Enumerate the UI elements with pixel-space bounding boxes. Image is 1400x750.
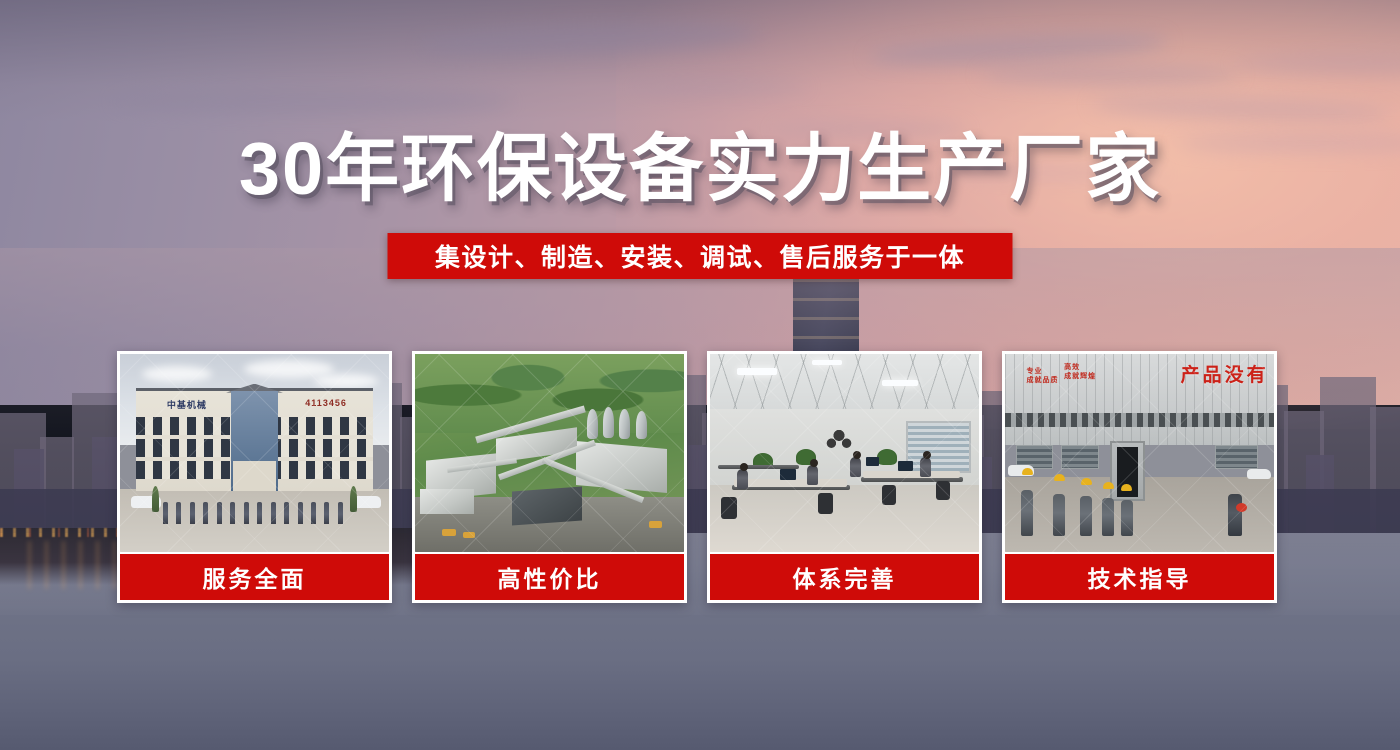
photo-yellow-machinery [463,532,475,538]
banner-headline: 30年环保设备实力生产厂家 [0,132,1400,206]
feature-card[interactable]: 高性价比 [412,351,687,603]
factory-workers-training-photo: 产品没有 专业 成就品质 高效 成就辉煌 [1005,354,1274,552]
photo-safety-helmet [1022,468,1033,475]
card-caption-text: 体系完善 [793,560,897,594]
photo-office-worker-head [810,459,818,467]
building-phone-text: 4113456 [305,398,347,408]
factory-wall-slogan: 产品没有 [1181,360,1269,387]
photo-supervisor [1228,494,1242,536]
photo-monitor [866,457,879,466]
photo-factory-worker [1021,490,1033,536]
photo-plant-shed [512,486,582,525]
building-sign-text: 中基机械 [167,398,207,411]
card-caption-text: 高性价比 [498,560,602,594]
photo-storage-silo [636,411,647,439]
photo-potted-plant [877,449,897,465]
photo-office-worker [920,457,931,477]
photo-staff-member [244,502,249,524]
feature-card[interactable]: 体系完善 [707,351,982,603]
photo-storage-silo [603,407,614,438]
card-caption: 高性价比 [415,552,684,600]
photo-chair [818,493,833,514]
photo-staff-member [338,502,343,524]
photo-staff-member [203,502,208,524]
photo-office-window-blinds [906,421,971,472]
photo-chair [721,497,737,519]
photo-factory-window [1215,445,1258,469]
photo-office-worker [737,469,748,489]
photo-factory-worker [1121,500,1133,536]
photo-office-worker-head [923,451,931,459]
feature-card[interactable]: 中基机械 4113456 [117,351,392,603]
card-caption-text: 技术指导 [1088,560,1192,594]
photo-factory-window [1061,445,1099,469]
photo-office-worker [850,457,861,477]
photo-staff-member [324,502,329,524]
photo-staff-member [176,502,181,524]
feature-card-row: 中基机械 4113456 [117,351,1283,603]
photo-storage-silo [587,409,598,439]
photo-entrance-portico [233,461,276,491]
photo-desk-surface [863,471,960,478]
card-caption: 服务全面 [120,552,389,600]
photo-office-worker-head [740,463,748,471]
photo-staff-member [271,502,276,524]
photo-yellow-machinery [649,521,662,528]
photo-office-worker [807,465,818,485]
subtitle-bar: 集设计、制造、安装、调试、售后服务于一体 [388,233,1013,279]
photo-plant-building [576,441,667,493]
photo-staff-member [217,502,222,524]
photo-chair [936,481,950,500]
photo-parked-car [1247,469,1271,479]
photo-ceiling-light [882,380,918,386]
photo-storage-silo [619,409,630,439]
photo-safety-helmet [1103,482,1114,489]
office-workspace-photo [710,354,979,552]
promotional-banner: 30年环保设备实力生产厂家 集设计、制造、安装、调试、售后服务于一体 中基机械 … [0,0,1400,750]
cloud-wisp [630,81,810,93]
cloud-wisp [112,89,512,115]
photo-staff-member [298,502,303,524]
photo-factory-worker [1053,494,1065,536]
subtitle-text: 集设计、制造、安装、调试、售后服务于一体 [435,238,965,274]
photo-staff-member [284,502,289,524]
photo-ceiling-light [812,360,842,365]
photo-office-worker-head [853,451,861,459]
photo-office-building: 中基机械 4113456 [136,388,373,491]
photo-monitor [898,461,913,471]
photo-monitor [780,469,796,480]
photo-safety-helmet [1081,478,1092,485]
cloud-wisp [980,65,1240,85]
card-caption-text: 服务全面 [203,560,307,594]
photo-ceiling [710,354,979,413]
feature-card[interactable]: 产品没有 专业 成就品质 高效 成就辉煌 [1002,351,1277,603]
photo-staff-member [311,502,316,524]
photo-ceiling-grid [710,354,979,413]
photo-staff-member [230,502,235,524]
photo-staff-member [257,502,262,524]
photo-ceiling-light [737,368,777,375]
photo-wall-decal [820,425,858,451]
card-caption: 体系完善 [710,552,979,600]
factory-wall-slogan-small: 专业 成就品质 [1027,368,1059,386]
photo-cloud [142,366,212,382]
photo-tree [152,486,159,512]
photo-plant-building [420,489,474,515]
photo-chair [882,485,896,505]
photo-factory-worker [1102,498,1114,536]
card-caption: 技术指导 [1005,552,1274,600]
photo-cloud [244,360,334,378]
factory-wall-slogan-small: 高效 成就辉煌 [1064,364,1096,382]
photo-yellow-machinery [442,529,456,536]
photo-safety-helmet [1054,474,1065,481]
photo-wall-vent-strip [1005,413,1274,427]
photo-desk-surface [734,479,847,487]
aerial-production-plant-photo [415,354,684,552]
photo-factory-worker [1080,496,1092,536]
photo-staff-member [190,502,195,524]
photo-tree [350,486,357,512]
photo-cloud [314,374,378,388]
photo-staff-member [163,502,168,524]
company-headquarters-photo: 中基机械 4113456 [120,354,389,552]
